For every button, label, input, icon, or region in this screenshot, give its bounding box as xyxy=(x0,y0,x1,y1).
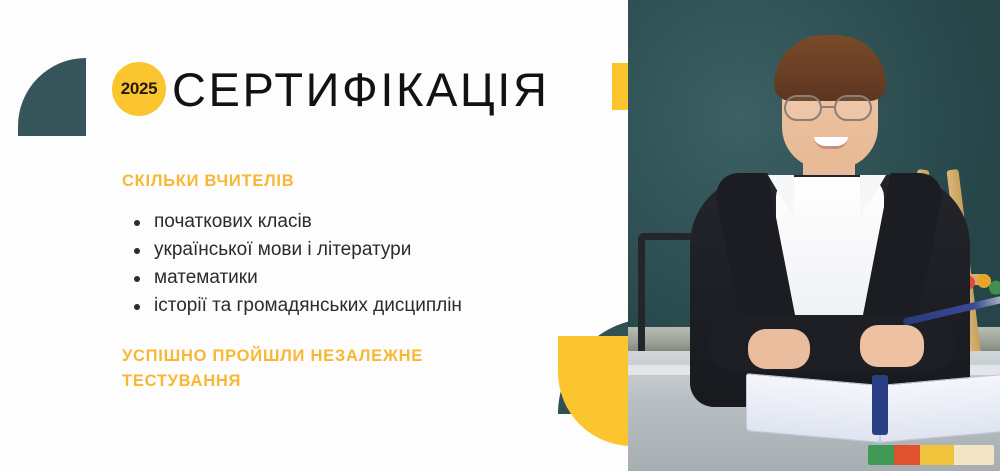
hair-top xyxy=(774,35,886,101)
subheading: Скільки вчителів xyxy=(122,172,294,191)
teacher-photo xyxy=(628,0,1000,471)
list-item: української мови і літератури xyxy=(128,236,462,264)
glasses-lens-left xyxy=(784,95,822,121)
hand-right xyxy=(860,325,924,367)
decor-teal-quarter-top-left xyxy=(18,58,86,136)
glasses-bridge xyxy=(822,106,834,108)
content-panel: 2025 СЕРТИФІКАЦІЯ Скільки вчителів почат… xyxy=(0,0,628,471)
teacher-figure xyxy=(664,0,994,397)
glasses-icon xyxy=(784,95,880,121)
list-item: історії та громадянських дисциплін xyxy=(128,292,462,320)
list-item: початкових класів xyxy=(128,208,462,236)
list-item: математики xyxy=(128,264,462,292)
decor-yellow-shape-bottom xyxy=(558,336,628,446)
notebook-page-right xyxy=(880,373,1000,443)
notebook-spine xyxy=(872,375,888,435)
year-badge: 2025 xyxy=(112,62,166,116)
sticky-notes xyxy=(868,445,994,465)
hand-left xyxy=(748,329,810,369)
page-title: СЕРТИФІКАЦІЯ xyxy=(172,66,550,113)
banner-header: 2025 СЕРТИФІКАЦІЯ xyxy=(112,62,550,116)
subject-list: початкових класів української мови і літ… xyxy=(128,208,462,320)
footnote-text: Успішно пройшли незалежне тестування xyxy=(122,344,502,394)
glasses-lens-right xyxy=(834,95,872,121)
decor-yellow-square-top xyxy=(612,63,628,110)
certification-banner: 2025 СЕРТИФІКАЦІЯ Скільки вчителів почат… xyxy=(0,0,1000,471)
notebook-page-left xyxy=(746,373,880,443)
open-notebook xyxy=(746,371,1000,437)
